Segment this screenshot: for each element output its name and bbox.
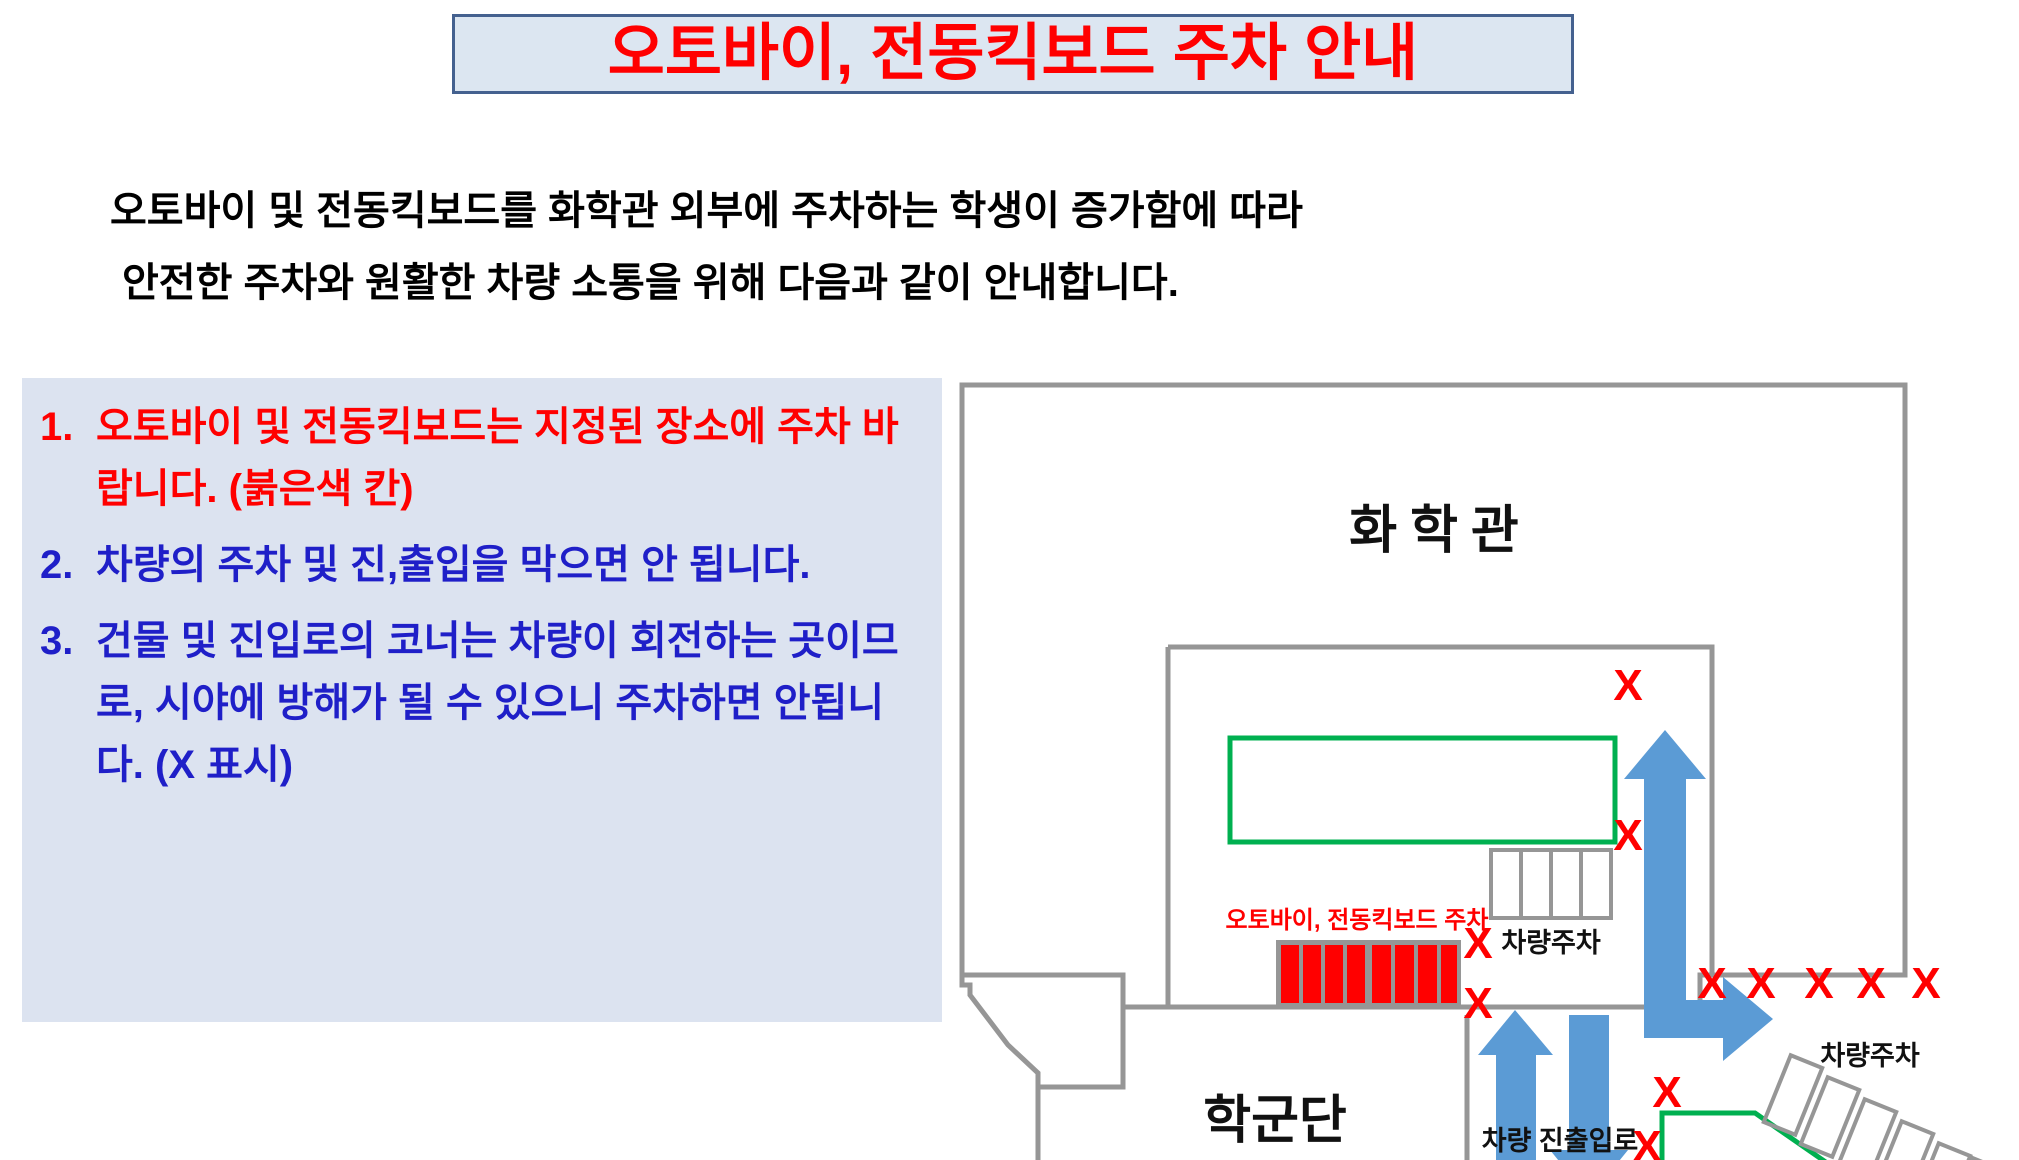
scooter-parking-label: 오토바이, 전동킥보드 주차 [1226, 907, 1489, 934]
page-title-box: 오토바이, 전동킥보드 주차 안내 [452, 14, 1574, 94]
x-mark-11: X [1632, 1122, 1661, 1160]
x-mark-10: X [1652, 1068, 1681, 1117]
x-mark-6: X [1746, 959, 1775, 1008]
green-zone-lot [1662, 1113, 1902, 1160]
rotc-building-outline [962, 975, 1123, 1087]
intro-line-1: 오토바이 및 전동킥보드를 화학관 외부에 주차하는 학생이 증가함에 따라 [110, 175, 1530, 247]
intro-paragraph: 오토바이 및 전동킥보드를 화학관 외부에 주차하는 학생이 증가함에 따라 안… [110, 175, 1530, 319]
green-zone-top [1230, 738, 1615, 842]
x-mark-8: X [1856, 959, 1885, 1008]
notice-item-2-text: 차량의 주차 및 진,출입을 막으면 안 됩니다. [96, 534, 920, 596]
scooter-parking-slots [1276, 940, 1461, 1008]
notice-item-2: 2. 차량의 주차 및 진,출입을 막으면 안 됩니다. [40, 534, 920, 596]
car-parking-top-slots [1491, 850, 1611, 918]
x-mark-1: X [1613, 661, 1642, 710]
campus-parking-map: 차량주차 오토바이, 전동킥보드 주차 화 학 관 학군단 차량 진출입로 [940, 355, 2019, 1160]
notice-item-3: 3. 건물 및 진입로의 코너는 차량이 회전하는 곳이므로, 시야에 방해가 … [40, 610, 920, 796]
car-parking-top-label: 차량주차 [1501, 928, 1601, 958]
notice-item-2-number: 2. [40, 534, 96, 596]
x-mark-5: X [1697, 959, 1726, 1008]
notice-item-1-number: 1. [40, 396, 96, 458]
x-mark-7: X [1804, 959, 1833, 1008]
rotc-building-label: 학군단 [1203, 1093, 1347, 1150]
notice-item-1-text: 오토바이 및 전동킥보드는 지정된 장소에 주차 바랍니다. (붉은색 칸) [96, 396, 920, 520]
x-mark-2: X [1613, 811, 1642, 860]
x-mark-3: X [1463, 919, 1492, 968]
notice-item-1: 1. 오토바이 및 전동킥보드는 지정된 장소에 주차 바랍니다. (붉은색 칸… [40, 396, 920, 520]
page-title: 오토바이, 전동킥보드 주차 안내 [608, 23, 1418, 85]
notice-item-3-number: 3. [40, 610, 96, 672]
notice-list-panel: 1. 오토바이 및 전동킥보드는 지정된 장소에 주차 바랍니다. (붉은색 칸… [22, 378, 942, 1022]
x-mark-4: X [1463, 979, 1492, 1028]
intro-line-2: 안전한 주차와 원활한 차량 소통을 위해 다음과 같이 안내합니다. [110, 247, 1530, 319]
x-mark-9: X [1911, 959, 1940, 1008]
car-parking-right-label: 차량주차 [1820, 1041, 1920, 1071]
chemistry-building-label: 화 학 관 [1349, 503, 1519, 560]
notice-item-3-text: 건물 및 진입로의 코너는 차량이 회전하는 곳이므로, 시야에 방해가 될 수… [96, 610, 920, 796]
right-road-wall [1712, 647, 1905, 975]
vehicle-entrance-label: 차량 진출입로 [1482, 1126, 1639, 1156]
